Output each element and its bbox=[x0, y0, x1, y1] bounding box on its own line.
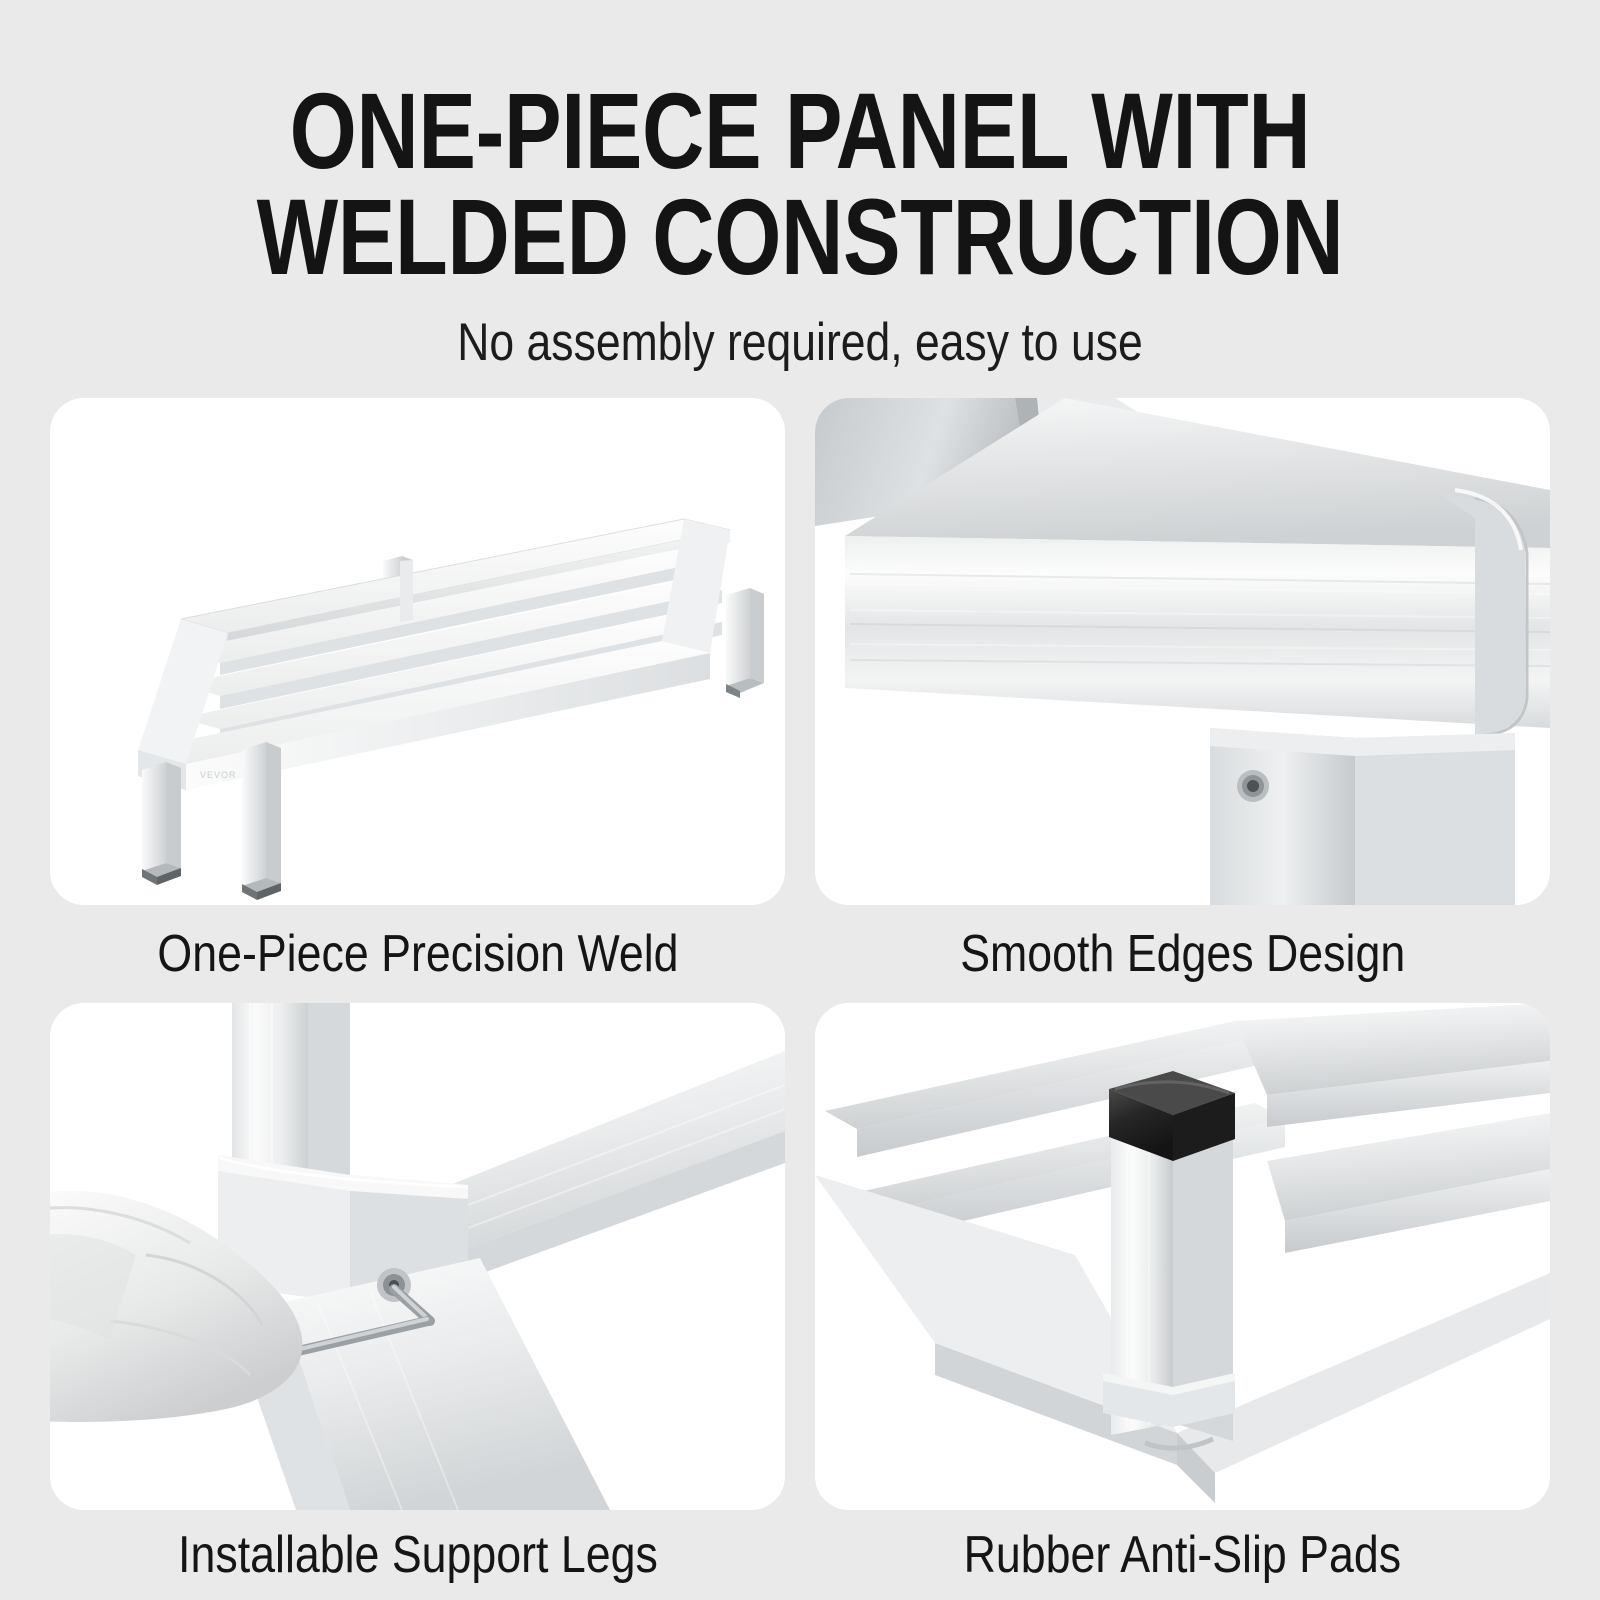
hex-screw-detail bbox=[1237, 770, 1269, 802]
feature-caption-rubber-anti-slip-pads: Rubber Anti-Slip Pads bbox=[815, 1510, 1550, 1600]
page-subtitle: No assembly required, easy to use bbox=[128, 290, 1472, 369]
smooth-edge-closeup-photo bbox=[815, 398, 1550, 905]
page-title-line-2: WELDED CONSTRUCTION bbox=[160, 184, 1440, 290]
rubber-foot-cap-photo bbox=[815, 1003, 1550, 1510]
header-block: ONE-PIECE PANEL WITH WELDED CONSTRUCTION… bbox=[0, 0, 1600, 369]
feature-caption-one-piece-precision-weld: One-Piece Precision Weld bbox=[50, 905, 785, 1003]
feature-grid: VEVOR bbox=[50, 398, 1550, 1510]
dunnage-rack-product-photo: VEVOR bbox=[50, 398, 785, 905]
svg-text:VEVOR: VEVOR bbox=[200, 770, 237, 780]
support-leg-install-photo bbox=[50, 1003, 785, 1510]
page-title-line-1: ONE-PIECE PANEL WITH bbox=[160, 78, 1440, 184]
feature-card-smooth-edges-design bbox=[815, 398, 1550, 905]
feature-caption-smooth-edges-design: Smooth Edges Design bbox=[815, 905, 1550, 1003]
feature-card-one-piece-precision-weld: VEVOR bbox=[50, 398, 785, 905]
feature-card-rubber-anti-slip-pads bbox=[815, 1003, 1550, 1510]
page-title: ONE-PIECE PANEL WITH WELDED CONSTRUCTION bbox=[160, 0, 1440, 290]
feature-card-installable-support-legs bbox=[50, 1003, 785, 1510]
feature-caption-installable-support-legs: Installable Support Legs bbox=[50, 1510, 785, 1600]
